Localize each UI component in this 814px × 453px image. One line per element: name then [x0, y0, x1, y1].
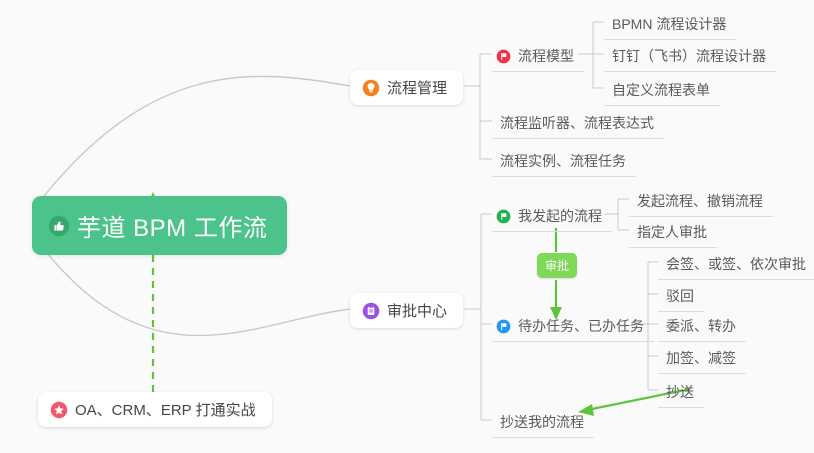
- star-icon: [50, 401, 68, 419]
- leaf-bpmn-designer[interactable]: BPMN 流程设计器: [604, 10, 736, 40]
- edge-group-process-management: [464, 54, 492, 159]
- node-label: 待办任务、已办任务: [518, 316, 644, 336]
- leaf-delegate-transfer[interactable]: 委派、转办: [658, 312, 746, 342]
- leaf-cc[interactable]: 抄送: [658, 378, 704, 408]
- mindmap-canvas: 芋道 BPM 工作流 流程管理 流程模型 BPMN 流程设计器 钉钉（飞书）流程…: [0, 0, 814, 453]
- approval-badge-label: 审批: [545, 259, 569, 273]
- edge-group-approval-center: [464, 214, 492, 420]
- node-todo-done[interactable]: 待办任务、已办任务: [492, 312, 654, 342]
- leaf-label: 加签、减签: [666, 348, 736, 368]
- node-label: 我发起的流程: [518, 206, 602, 226]
- leaf-label: 流程实例、流程任务: [500, 151, 626, 171]
- edge-root-to-process-management: [36, 76, 350, 206]
- branch-process-management[interactable]: 流程管理: [350, 70, 463, 105]
- leaf-label: 发起流程、撤销流程: [637, 191, 763, 211]
- clipboard-icon: [362, 302, 380, 320]
- leaf-label: 自定义流程表单: [612, 80, 710, 100]
- leaf-label: 流程监听器、流程表达式: [500, 113, 654, 133]
- leaf-dingtalk-feishu-designer[interactable]: 钉钉（飞书）流程设计器: [604, 42, 776, 72]
- leaf-reject[interactable]: 驳回: [658, 282, 704, 312]
- flag-icon: [496, 319, 511, 334]
- leaf-custom-form[interactable]: 自定义流程表单: [604, 76, 720, 106]
- leaf-label: 抄送: [666, 382, 694, 402]
- node-label: 流程模型: [518, 46, 574, 66]
- node-my-initiated[interactable]: 我发起的流程: [492, 202, 612, 232]
- flag-icon: [496, 209, 511, 224]
- leaf-add-remove-sign[interactable]: 加签、减签: [658, 344, 746, 374]
- leaf-label: 委派、转办: [666, 316, 736, 336]
- branch-label: 审批中心: [387, 300, 447, 321]
- leaf-label: 会签、或签、依次审批: [666, 254, 806, 274]
- root-node[interactable]: 芋道 BPM 工作流: [32, 196, 287, 255]
- root-label: 芋道 BPM 工作流: [77, 208, 267, 243]
- leaf-label: 驳回: [666, 286, 694, 306]
- leaf-start-cancel-process[interactable]: 发起流程、撤销流程: [629, 187, 773, 217]
- leaf-label: BPMN 流程设计器: [612, 14, 726, 34]
- branch-approval-center[interactable]: 审批中心: [350, 293, 463, 328]
- thumbs-up-icon: [48, 215, 70, 237]
- approval-badge: 审批: [537, 253, 577, 278]
- leaf-label: 钉钉（飞书）流程设计器: [612, 46, 766, 66]
- leaf-label: 指定人审批: [637, 222, 707, 242]
- flag-icon: [496, 49, 511, 64]
- branch-label: 流程管理: [387, 77, 447, 98]
- bottom-note-node[interactable]: OA、CRM、ERP 打通实战: [38, 392, 272, 427]
- node-process-model[interactable]: 流程模型: [492, 42, 584, 72]
- leaf-listener-expression[interactable]: 流程监听器、流程表达式: [492, 109, 664, 139]
- leaf-label: 抄送我的流程: [500, 412, 584, 432]
- bottom-note-label: OA、CRM、ERP 打通实战: [75, 399, 256, 420]
- leaf-countersign[interactable]: 会签、或签、依次审批: [658, 250, 814, 280]
- leaf-assignee-approval[interactable]: 指定人审批: [629, 218, 717, 248]
- lightbulb-icon: [362, 79, 380, 97]
- leaf-instance-task[interactable]: 流程实例、流程任务: [492, 147, 636, 177]
- leaf-cc-to-me[interactable]: 抄送我的流程: [492, 408, 594, 438]
